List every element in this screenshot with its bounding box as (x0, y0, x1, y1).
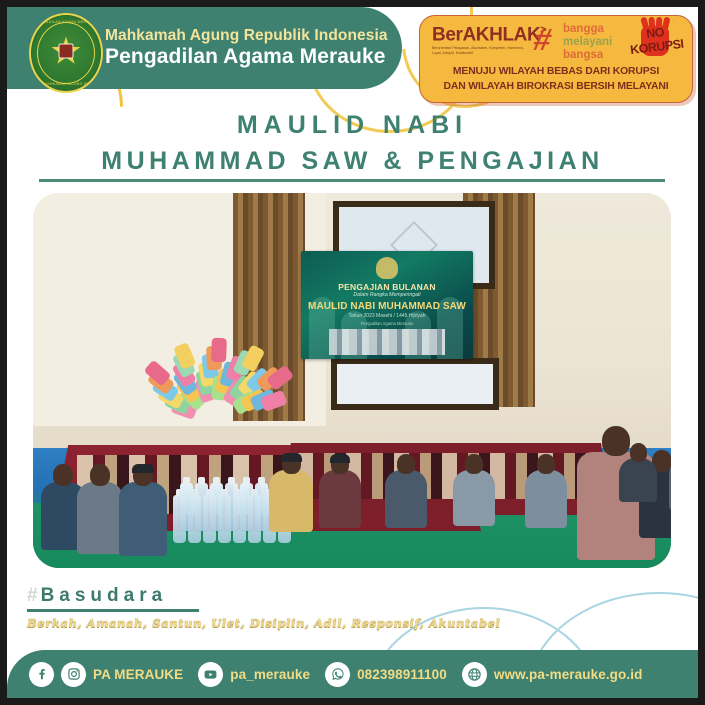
badge-caption: MENUJU WILAYAH BEBAS DARI KORUPSI DAN WI… (420, 64, 692, 94)
basudara-block: # Basudara Berkah, Amanah, Santun, Ulet,… (27, 585, 501, 630)
attendee-body (669, 458, 671, 510)
title-line-2: MUHAMMAD SAW & PENGAJIAN (7, 147, 698, 176)
attendee-head (90, 464, 110, 486)
attendee (453, 450, 495, 526)
water-bottle (255, 483, 268, 531)
bangga-melayani-bangsa-logo: bangga melayani bangsa (563, 23, 612, 62)
title-line-1: MAULID NABI (7, 111, 698, 140)
slogan-line-1: bangga (563, 23, 612, 36)
attendee-body (619, 458, 657, 502)
attendee-songkok-cap (132, 464, 154, 473)
footer-label-4[interactable]: www.pa-merauke.go.id (494, 667, 643, 682)
attendee-head (537, 454, 555, 474)
berakhlak-wordmark: BerAKHLAK> (432, 24, 546, 46)
footer-contact-list: PA MERAUKEpa_merauke082398911100www.pa-m… (29, 650, 650, 698)
water-bottle (210, 483, 223, 531)
event-backdrop-banner: PENGAJIAN BULANAN Dalam Rangka Mempering… (301, 251, 473, 359)
poster-canvas: Mahkamah Agung Republik Indonesia Pengad… (7, 7, 698, 698)
instagram-icon[interactable] (61, 662, 86, 687)
seal-top-text: PENGADILAN AGAMA MERAUKE (31, 20, 101, 24)
water-bottle (240, 483, 253, 531)
poster-title: MAULID NABI MUHAMMAD SAW & PENGAJIAN (7, 111, 698, 176)
footer-bar: PA MERAUKEpa_merauke082398911100www.pa-m… (7, 650, 698, 698)
attendee (669, 438, 671, 510)
banner-text-line-5: Pengadilan Agama Merauke (301, 321, 473, 326)
attendee-body (319, 470, 361, 528)
title-divider (39, 179, 665, 182)
attendee (269, 449, 313, 532)
banner-dome-icon (376, 257, 398, 279)
hashtag-icon: # (531, 25, 563, 55)
berakhlak-logo: BerAKHLAK> Berorientasi Pelayanan, Akunt… (432, 24, 546, 57)
attendee (525, 450, 567, 528)
poster: Mahkamah Agung Republik Indonesia Pengad… (0, 0, 705, 705)
attendee-body (525, 470, 567, 528)
berakhlak-badge: BerAKHLAK> Berorientasi Pelayanan, Akunt… (419, 15, 693, 103)
globe-icon[interactable] (462, 662, 487, 687)
attendee-body (385, 470, 427, 528)
attendee-songkok-cap (281, 453, 302, 462)
basudara-underline (27, 609, 199, 612)
court-seal-logo: PENGADILAN AGAMA MERAUKE MAHKAMAH AGUNG … (29, 13, 103, 93)
attendee (77, 460, 123, 554)
seal-bottom-text: MAHKAMAH AGUNG RI (31, 82, 101, 86)
anti-corruption-text: NO KORUPSI (626, 23, 687, 58)
event-photo: PENGAJIAN BULANAN Dalam Rangka Mempering… (33, 193, 671, 568)
badge-caption-line-1: MENUJU WILAYAH BEBAS DARI KORUPSI (420, 64, 692, 79)
attendee-head (630, 443, 647, 462)
decorative-snack-bouquet (153, 343, 273, 453)
snack-item (211, 338, 227, 363)
institution-name-line1: Mahkamah Agung Republik Indonesia (105, 28, 388, 44)
water-bottle (195, 483, 208, 531)
basudara-word: Basudara (41, 585, 168, 607)
berakhlak-brand-text: BerAKHLAK (432, 24, 540, 45)
banner-text-line-1: PENGAJIAN BULANAN (301, 282, 473, 292)
attendee-body (119, 482, 167, 556)
banner-text-line-2: Dalam Rangka Memperingati (301, 292, 473, 298)
slogan-line-2: melayani (563, 36, 612, 49)
banner-text-line-3: MAULID NABI MUHAMMAD SAW (301, 301, 473, 312)
facebook-icon[interactable] (29, 662, 54, 687)
photo-window-lower (331, 358, 499, 410)
institution-name-line2: Pengadilan Agama Merauke (105, 46, 388, 68)
basudara-hash-symbol: # (27, 585, 38, 607)
attendee-head (397, 454, 415, 474)
attendee (119, 460, 167, 556)
basudara-heading: # Basudara (27, 585, 501, 607)
youtube-icon[interactable] (198, 662, 223, 687)
footer-label-2[interactable]: pa_merauke (230, 667, 310, 682)
header-text-block: Mahkamah Agung Republik Indonesia Pengad… (105, 28, 388, 68)
water-bottle (225, 483, 238, 531)
attendee-songkok-cap (330, 454, 350, 463)
banner-group-photo-strip (329, 329, 445, 355)
attendee-body (269, 470, 313, 532)
attendee-head (53, 464, 73, 486)
berakhlak-subtext: Berorientasi Pelayanan, Akuntabel, Kompe… (432, 46, 527, 56)
attendee (619, 439, 657, 502)
basudara-tagline: Berkah, Amanah, Santun, Ulet, Disiplin, … (27, 616, 501, 630)
attendee (319, 450, 361, 528)
badge-caption-line-2: DAN WILAYAH BIROKRASI BERSIH MELAYANI (420, 79, 692, 94)
water-bottle (180, 483, 193, 531)
anti-corruption-logo: NO KORUPSI (627, 20, 685, 62)
attendee-body (77, 482, 123, 554)
banner-text-line-4: Tahun 2023 Masehi / 1445 Hijriyah (301, 313, 473, 319)
footer-label-3[interactable]: 082398911100 (357, 667, 447, 682)
seal-center-emblem (59, 44, 74, 59)
whatsapp-icon[interactable] (325, 662, 350, 687)
badge-logo-row: BerAKHLAK> Berorientasi Pelayanan, Akunt… (420, 16, 692, 63)
attendee-body (453, 470, 495, 526)
footer-label-1[interactable]: PA MERAUKE (93, 667, 183, 682)
attendee-head (465, 454, 483, 474)
slogan-line-3: bangsa (563, 49, 612, 62)
attendee (385, 450, 427, 528)
